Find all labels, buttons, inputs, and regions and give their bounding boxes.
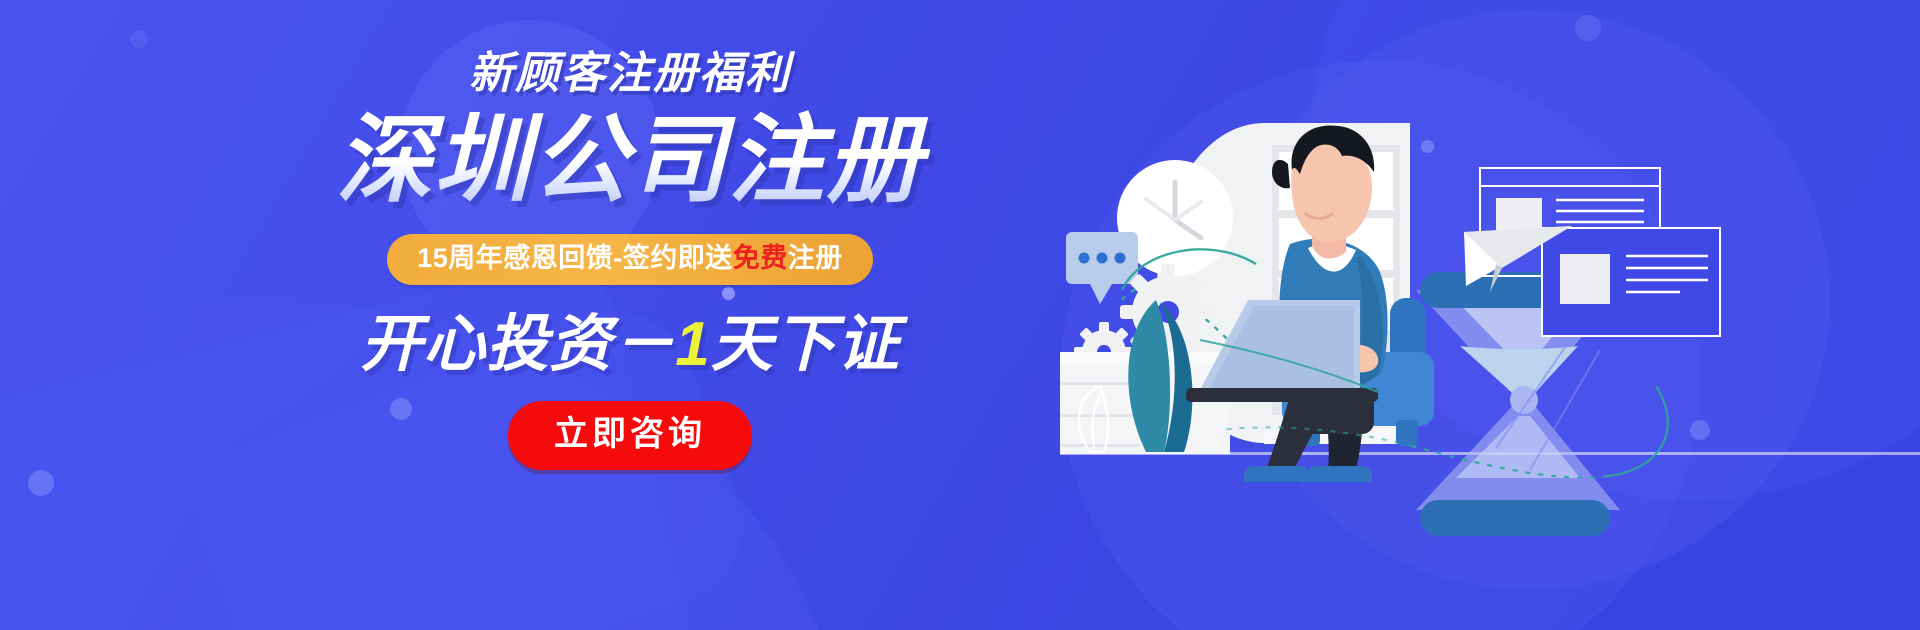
tagline-number: 1	[675, 310, 710, 379]
promo-banner: 新顾客注册福利 深圳公司注册 15周年感恩回馈-签约即送免费注册 开心投资－1天…	[0, 0, 1920, 630]
chat-bubble-icon	[1066, 232, 1138, 304]
page-title: 深圳公司注册	[330, 110, 930, 212]
promo-copy-block: 新顾客注册福利 深圳公司注册 15周年感恩回馈-签约即送免费注册 开心投资－1天…	[330, 52, 930, 470]
tagline-after: 天下证	[711, 310, 900, 379]
eyebrow-text: 新顾客注册福利	[330, 52, 930, 96]
consult-now-button-label: 立即咨询	[554, 415, 706, 454]
decorative-dot	[28, 470, 54, 496]
decorative-dot	[130, 30, 148, 48]
tagline-text: 开心投资－1天下证	[330, 311, 930, 379]
consult-now-button[interactable]: 立即咨询	[508, 401, 752, 470]
offer-badge-prefix: 15周年感恩回馈-签约即送	[417, 243, 733, 273]
document-card	[1542, 228, 1720, 336]
offer-badge: 15周年感恩回馈-签约即送免费注册	[387, 234, 873, 285]
offer-badge-highlight: 免费	[733, 243, 788, 273]
hourglass-cap-bottom	[1420, 500, 1610, 536]
tagline-before: 开心投资－	[360, 310, 675, 379]
illustration	[1060, 0, 1920, 630]
offer-badge-suffix: 注册	[788, 243, 843, 273]
offer-badge-text: 15周年感恩回馈-签约即送免费注册	[417, 245, 843, 272]
